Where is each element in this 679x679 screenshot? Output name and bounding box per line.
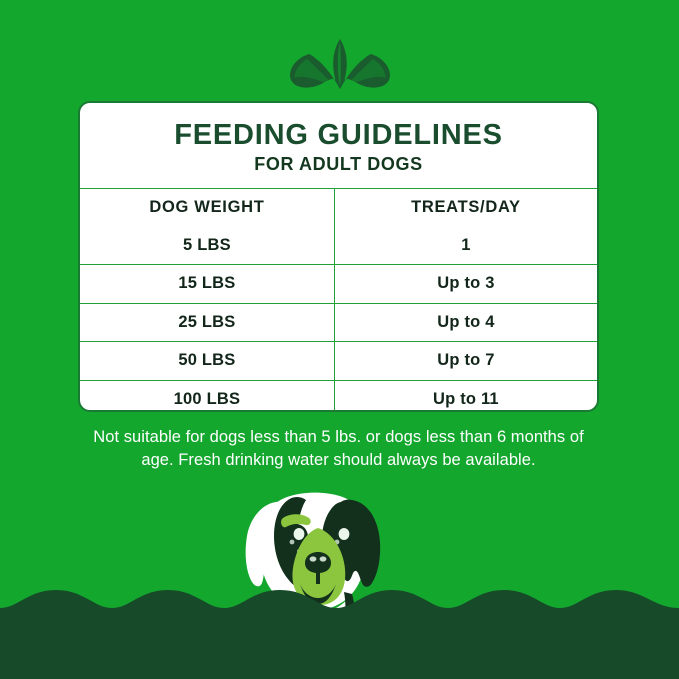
cell-treats-per-day: 1	[334, 227, 597, 265]
cell-dog-weight: 5 LBS	[80, 227, 334, 265]
column-header-dog-weight: DOG WEIGHT	[80, 189, 334, 227]
column-header-treats-per-day: TREATS/DAY	[334, 189, 597, 227]
cell-dog-weight: 50 LBS	[80, 342, 334, 381]
feeding-guidelines-graphic: FEEDING GUIDELINES FOR ADULT DOGS DOG WE…	[0, 0, 679, 679]
bottom-illustration	[0, 480, 679, 679]
cell-treats-per-day: Up to 3	[334, 265, 597, 304]
brand-logo	[0, 33, 679, 95]
cell-dog-weight: 25 LBS	[80, 303, 334, 342]
feeding-guidelines-card: FEEDING GUIDELINES FOR ADULT DOGS DOG WE…	[78, 101, 599, 412]
cell-dog-weight: 15 LBS	[80, 265, 334, 304]
page-title: FEEDING GUIDELINES	[174, 120, 503, 150]
cell-dog-weight: 100 LBS	[80, 380, 334, 412]
table-row: 100 LBS Up to 11	[80, 380, 597, 412]
table-row: 5 LBS 1	[80, 227, 597, 265]
card-header: FEEDING GUIDELINES FOR ADULT DOGS	[80, 103, 597, 189]
leaf-fan-icon	[281, 36, 399, 92]
disclaimer-text: Not suitable for dogs less than 5 lbs. o…	[78, 426, 599, 473]
page-subtitle: FOR ADULT DOGS	[254, 154, 422, 175]
cell-treats-per-day: Up to 4	[334, 303, 597, 342]
table-row: 50 LBS Up to 7	[80, 342, 597, 381]
table-row: 15 LBS Up to 3	[80, 265, 597, 304]
table-row: 25 LBS Up to 4	[80, 303, 597, 342]
feeding-table: DOG WEIGHT TREATS/DAY 5 LBS 1 15 LBS Up …	[80, 189, 597, 412]
cell-treats-per-day: Up to 11	[334, 380, 597, 412]
dog-and-hill-artwork	[0, 480, 679, 679]
cell-treats-per-day: Up to 7	[334, 342, 597, 381]
table-header-row: DOG WEIGHT TREATS/DAY	[80, 189, 597, 227]
